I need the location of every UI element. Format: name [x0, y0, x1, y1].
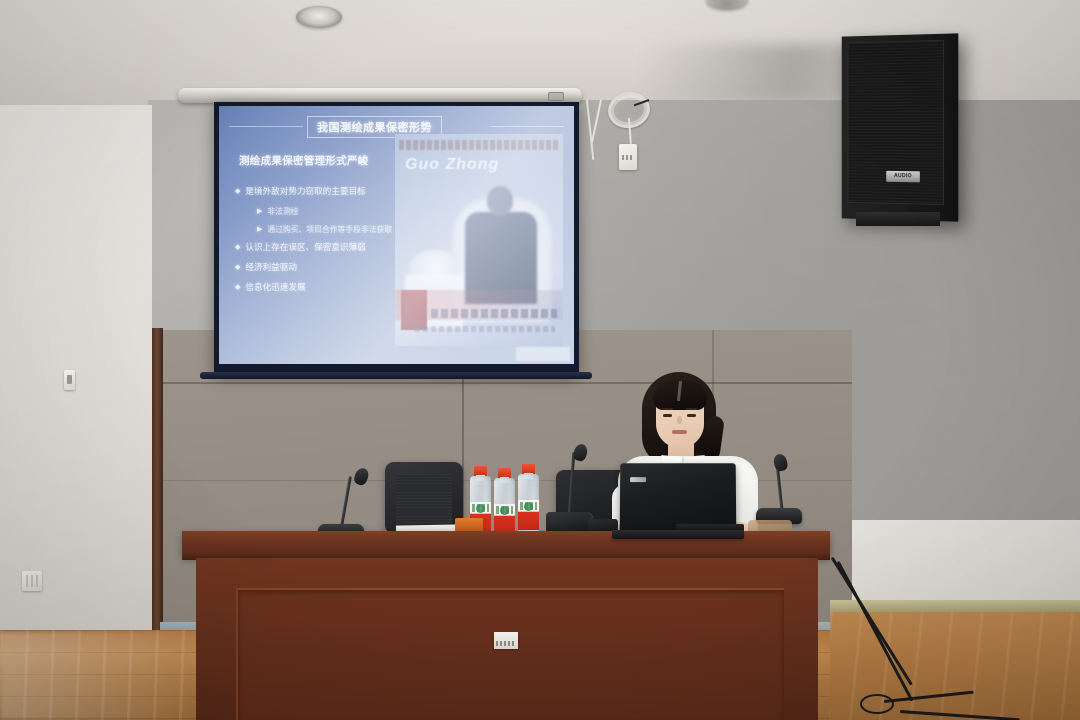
presenter-eye-right	[687, 414, 696, 417]
bullet-text: 信息化迅速发展	[245, 282, 305, 293]
bottle-label-emblem	[524, 502, 533, 511]
bottle-label-emblem	[500, 506, 509, 515]
bullet-marker-icon: ◆	[235, 186, 240, 197]
bullet-marker-icon: ◆	[235, 262, 240, 273]
wall-trim-vertical	[152, 328, 163, 640]
slide-corner-badge	[516, 347, 570, 361]
slide-subtitle: 测绘成果保密管理形式严峻	[239, 153, 369, 168]
presenter-mouth	[672, 430, 687, 434]
presenter-eye-left	[663, 414, 672, 417]
bullet-marker-icon: ◆	[235, 282, 240, 293]
chair-mesh	[396, 474, 452, 530]
list-item: ◆ 信息化迅速发展	[235, 282, 407, 293]
bullet-text: 通过购买、项目合作等手段非法获取	[267, 224, 392, 235]
light-switch-icon[interactable]	[64, 370, 75, 390]
speaker-badge: AUDIO	[886, 171, 920, 183]
ceiling-light-icon	[296, 6, 342, 28]
floor-cable-coil	[860, 694, 894, 714]
slide-bullet-list: ◆ 是境外敌对势力窃取的主要目标 ▶ 非法测绘 ▶ 通过购买、项目合作等手段非法…	[235, 186, 407, 302]
wall-speaker: AUDIO	[842, 33, 959, 221]
bottle-label-emblem	[476, 504, 485, 513]
screen-weight-bar	[200, 372, 592, 379]
presenter-brow-right	[686, 408, 697, 410]
photo-red-badge	[401, 290, 427, 330]
presenter-brow-left	[662, 408, 673, 410]
podium-front-panel	[236, 588, 784, 720]
photo-caption-text: Guo Zhong	[405, 156, 557, 182]
bullet-text: 认识上存在误区、保密意识薄弱	[245, 242, 365, 253]
water-bottle-3[interactable]	[518, 464, 539, 540]
bullet-marker-icon: ◆	[235, 242, 240, 253]
laptop-logo-icon	[630, 477, 646, 482]
list-item: ▶ 通过购买、项目合作等手段非法获取	[257, 224, 407, 235]
cable-junction-box	[619, 144, 637, 170]
presentation-slide: 我国测绘成果保密形势 测绘成果保密管理形式严峻 ◆ 是境外敌对势力窃取的主要目标…	[219, 106, 574, 364]
room-photo-scene: 我国测绘成果保密形势 测绘成果保密管理形式严峻 ◆ 是境外敌对势力窃取的主要目标…	[0, 0, 1080, 720]
slide-photo: Guo Zhong	[395, 134, 563, 346]
photo-ticker-line-2	[415, 326, 555, 332]
podium-asset-label	[494, 632, 518, 649]
photo-ticker-line	[431, 309, 557, 318]
bullet-marker-icon: ▶	[257, 206, 262, 217]
list-item: ▶ 非法测绘	[257, 206, 407, 217]
speaker-mount-bracket	[856, 212, 940, 226]
title-rule-right	[490, 126, 564, 127]
title-rule-left	[229, 126, 303, 127]
photo-person-head	[487, 186, 513, 216]
laptop-base[interactable]	[612, 530, 744, 539]
list-item: ◆ 经济利益驱动	[235, 262, 407, 273]
office-chair-1	[385, 462, 463, 534]
bullet-text: 非法测绘	[267, 206, 298, 217]
wall-outlet-icon	[22, 571, 42, 591]
list-item: ◆ 是境外敌对势力窃取的主要目标	[235, 186, 407, 197]
projector-screen-housing	[178, 88, 582, 103]
bullet-marker-icon: ▶	[257, 224, 262, 235]
orange-object[interactable]	[455, 518, 483, 532]
photo-headline-band	[399, 140, 559, 150]
bullet-text: 是境外敌对势力窃取的主要目标	[245, 186, 365, 197]
list-item: ◆ 认识上存在误区、保密意识薄弱	[235, 242, 407, 253]
screen-roller-knob[interactable]	[548, 92, 564, 101]
presenter-nose	[677, 416, 682, 424]
bullet-text: 经济利益驱动	[245, 262, 297, 273]
